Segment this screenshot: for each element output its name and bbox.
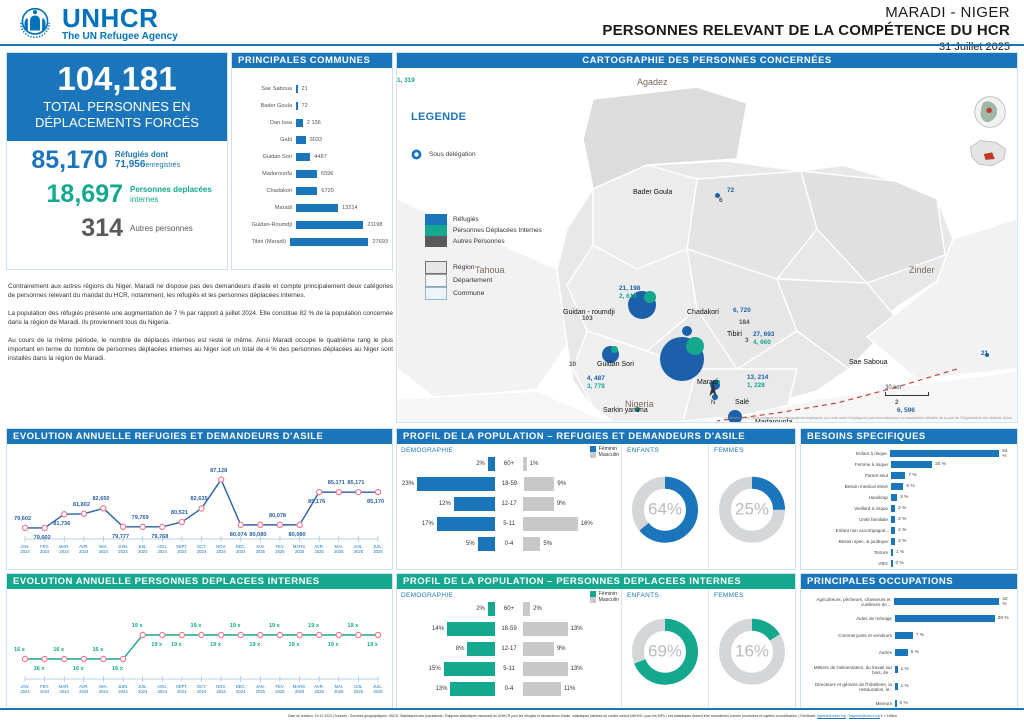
line-point-label: 19 x bbox=[328, 642, 339, 648]
footer-email-1[interactable]: dgarcia@unhcr.org bbox=[817, 714, 846, 718]
line-point-label: 19 x bbox=[230, 623, 241, 629]
occupations-bars: Agriculteurs, pêcheurs, chasseurs et cue… bbox=[801, 589, 1017, 712]
line-point-label: 80,078 bbox=[269, 513, 286, 519]
map-legend: LEGENDE Sous délégation RéfugiésPersonne… bbox=[411, 111, 601, 160]
pyramid-feminin-pct: 5% bbox=[463, 541, 478, 547]
map-town-label: Tibiri bbox=[727, 331, 742, 338]
legend-swatch bbox=[425, 225, 447, 236]
map-panel: CARTOGRAPHIE DES PERSONNES CONCERNÉES Ba… bbox=[396, 52, 1018, 423]
legend-admin-levels: RégionDépartementCommune bbox=[425, 261, 492, 300]
pyramid-masculin-bar bbox=[523, 642, 554, 656]
legend-admin: Région bbox=[425, 261, 492, 274]
legend-category-label: Personnes Déplacées Internes bbox=[453, 227, 542, 234]
legend-admin: Commune bbox=[425, 287, 492, 300]
pyramid-feminin: 12% bbox=[399, 497, 495, 511]
pyramid-masculin-bar bbox=[523, 517, 577, 531]
pyramid-feminin: 5% bbox=[399, 537, 495, 551]
donut-value: 25% bbox=[718, 475, 786, 543]
hbar-bar bbox=[894, 598, 1000, 605]
pyramid-age-label: 60+ bbox=[495, 606, 524, 612]
line-axis-label: JUIL.2025 bbox=[367, 684, 389, 694]
line-point-label: 19 x bbox=[347, 623, 358, 629]
hbar-row: Agriculteurs, pêcheurs, chasseurs et cue… bbox=[803, 593, 1013, 610]
chart-evolution-refugies-title: EVOLUTION ANNUELLE REFUGIES ET DEMANDEUR… bbox=[7, 429, 392, 444]
line-point-label: 82,650 bbox=[92, 496, 109, 502]
hbar-value: 3 % bbox=[897, 495, 908, 500]
line-point-label: 19 x bbox=[171, 642, 182, 648]
kpi-row: 85,170Réfugiés dont 71,956enregistrés bbox=[7, 141, 227, 175]
legend-swatch bbox=[425, 214, 447, 225]
footer-text: Date de création: 19.12.2023 | Sources :… bbox=[288, 714, 897, 718]
kpi-label: Personnes deplacéesinternes bbox=[123, 185, 212, 205]
pyramid-feminin: 2% bbox=[399, 602, 495, 616]
legend-admin-label: Commune bbox=[453, 290, 484, 297]
hbar-value: 6 % bbox=[903, 484, 914, 489]
line-point-label: 80,080 bbox=[289, 532, 306, 538]
pyramid-masculin-bar bbox=[523, 682, 560, 696]
pyramid-row: 23%18-599% bbox=[399, 474, 619, 494]
hbar-row: Unité familiale2 % bbox=[803, 514, 1013, 525]
commune-row: Guidan Sori4487 bbox=[234, 148, 388, 165]
unhcr-logo: UNHCR The UN Refugee Agency bbox=[14, 2, 178, 44]
chart-besoins-specifiques: BESOINS SPECIFIQUES Enfant à risque54 %F… bbox=[800, 428, 1018, 570]
pyramid-masculin: 1% bbox=[523, 457, 619, 471]
commune-value: 27693 bbox=[368, 239, 388, 245]
page-header: UNHCR The UN Refugee Agency MARADI - NIG… bbox=[0, 0, 1024, 46]
niger-inset-icon bbox=[967, 137, 1009, 171]
hbar-row: Handicap3 % bbox=[803, 492, 1013, 503]
hbar-value: 1 % bbox=[893, 550, 904, 555]
pyramid-masculin-bar bbox=[523, 662, 567, 676]
profil-refugies-body: DEMOGRAPHIEFémininMasculin2%60+1%23%18-5… bbox=[397, 444, 795, 569]
legend-admin-swatch bbox=[425, 287, 447, 300]
pyramid-age-label: 12-17 bbox=[495, 646, 524, 652]
map-scale-label: 30 km bbox=[885, 385, 901, 391]
kpi-total-value: 104,181 bbox=[11, 61, 223, 97]
commune-bar bbox=[296, 136, 306, 144]
pyramid-row: 12%12-179% bbox=[399, 494, 619, 514]
map-title: CARTOGRAPHIE DES PERSONNES CONCERNÉES bbox=[397, 53, 1017, 68]
line-point-label: 16 x bbox=[73, 666, 84, 672]
north-label: N bbox=[708, 400, 718, 406]
line-point-label: 19 x bbox=[151, 642, 162, 648]
map-bubble[interactable] bbox=[682, 326, 692, 336]
communes-list: Sae Saboua21Bader Goula72Dan Issa2 136Ga… bbox=[232, 68, 392, 250]
hbar-row: Enfant non accompagné..2 % bbox=[803, 525, 1013, 536]
kpi-total-label: TOTAL PERSONNES EN DÉPLACEMENTS FORCÉS bbox=[11, 99, 223, 131]
hbar-row: Commerçants et vendeurs7 % bbox=[803, 627, 1013, 644]
donut-enfants: ENFANTS69% bbox=[621, 589, 708, 709]
communes-title: PRINCIPALES COMMUNES bbox=[232, 53, 392, 68]
pyramid-feminin-pct: 2% bbox=[473, 606, 488, 612]
pyramid-masculin-pct: 16% bbox=[578, 521, 596, 527]
donut-title: ENFANTS bbox=[622, 447, 708, 454]
hbar-label: Torture bbox=[803, 550, 891, 555]
commune-row: Sae Saboua21 bbox=[234, 80, 388, 97]
hbar-row: Torture1 % bbox=[803, 547, 1013, 558]
pyramid-age-label: 18-59 bbox=[495, 481, 524, 487]
pyramid-age-label: 5-11 bbox=[495, 521, 524, 527]
pyramid-feminin-pct: 13% bbox=[432, 686, 450, 692]
pyramid-masculin-pct: 11% bbox=[561, 686, 579, 692]
pyramid-age-label: 0-4 bbox=[495, 686, 524, 692]
hbar-value: 20 % bbox=[932, 462, 946, 467]
map-value-autres: 184 bbox=[739, 319, 750, 326]
commune-bar bbox=[296, 221, 363, 229]
commune-bar bbox=[296, 204, 338, 212]
legend-sous-delegation: Sous délégation bbox=[411, 149, 601, 160]
legend-entry: Masculin bbox=[590, 597, 619, 603]
hbar-bar bbox=[895, 615, 995, 622]
pyramid-feminin: 2% bbox=[399, 457, 495, 471]
north-arrow-icon bbox=[708, 382, 718, 398]
legend-sous-delegation-label: Sous délégation bbox=[429, 151, 476, 158]
hbar-bar bbox=[891, 472, 905, 479]
map-town-label: Chadakori bbox=[687, 309, 719, 316]
map-scale: 30 km bbox=[885, 385, 929, 396]
map-scale-bar bbox=[885, 392, 929, 396]
map-neighbour-label: Nigeria bbox=[625, 399, 654, 409]
hbar-value: 42 % bbox=[999, 597, 1013, 607]
chart-principales-occupations: PRINCIPALES OCCUPATIONS Agriculteurs, pê… bbox=[800, 573, 1018, 710]
pyramid-masculin: 13% bbox=[523, 622, 619, 636]
line-point-label: 82,635 bbox=[191, 496, 208, 502]
unhcr-emblem-icon bbox=[14, 2, 56, 44]
hbar-label: Unité familiale bbox=[803, 517, 891, 522]
line-point-label: 79,777 bbox=[112, 534, 129, 540]
chart-evolution-refugies: EVOLUTION ANNUELLE REFUGIES ET DEMANDEUR… bbox=[6, 428, 393, 570]
donut-femmes: FEMMES25% bbox=[708, 444, 795, 569]
pyramid-masculin-pct: 5% bbox=[540, 541, 555, 547]
line-point-label: 16 x bbox=[34, 666, 45, 672]
commune-row: Gabi3033 bbox=[234, 131, 388, 148]
narrative-paragraph: Contrairement aux autres régions du Nige… bbox=[8, 282, 393, 300]
commune-value: 4487 bbox=[310, 154, 326, 160]
pyramid-row: 15%5-1113% bbox=[399, 659, 619, 679]
line-point-label: 19 x bbox=[308, 623, 319, 629]
line-point-label: 19 x bbox=[269, 623, 280, 629]
map-value-pdi: 1, 319 bbox=[397, 77, 415, 84]
legend-entry: Masculin bbox=[590, 452, 619, 458]
hbar-value: 7 % bbox=[905, 473, 916, 478]
legend-admin: Département bbox=[425, 274, 492, 287]
map-value-autres: 2 bbox=[895, 399, 899, 406]
pyramid-feminin-bar bbox=[450, 682, 494, 696]
hbar-label: Mineurs bbox=[803, 701, 895, 706]
kpi-panel: 104,181 TOTAL PERSONNES EN DÉPLACEMENTS … bbox=[6, 52, 228, 270]
chart-profil-refugies: PROFIL DE LA POPULATION – REFUGIES ET DE… bbox=[396, 428, 796, 570]
line-point-label: 19 x bbox=[191, 623, 202, 629]
commune-value: 21198 bbox=[363, 222, 382, 228]
pyramid-feminin-bar bbox=[447, 622, 495, 636]
hbar-bar bbox=[891, 461, 932, 468]
pyramid-feminin-bar bbox=[478, 537, 495, 551]
pyramid-masculin: 16% bbox=[523, 517, 619, 531]
legend-category-label: Autres Personnes bbox=[453, 238, 505, 245]
pyramid-masculin: 13% bbox=[523, 662, 619, 676]
map-value-pdi: 3, 778 bbox=[587, 383, 605, 390]
pyramid-feminin-bar bbox=[437, 517, 495, 531]
pyramid-legend: FémininMasculin bbox=[590, 446, 619, 458]
donut-value: 16% bbox=[718, 618, 786, 686]
pyramid-masculin: 9% bbox=[523, 497, 619, 511]
donut-value: 64% bbox=[631, 475, 699, 543]
pyramid-masculin-bar bbox=[523, 497, 554, 511]
commune-name: Maradi bbox=[234, 205, 296, 211]
pyramid-masculin-pct: 9% bbox=[554, 501, 569, 507]
line-point-label: 85,176 bbox=[308, 499, 325, 505]
map-value-pdi: 2, 618 bbox=[619, 293, 637, 300]
commune-name: Tibiri (Maradi) bbox=[234, 239, 290, 245]
pyramid-masculin: 2% bbox=[523, 602, 619, 616]
chart-evolution-pdi: EVOLUTION ANNUELLE PERSONNES DEPLACEES I… bbox=[6, 573, 393, 710]
commune-value: 21 bbox=[298, 86, 308, 92]
pyramid-row: 5%0-45% bbox=[399, 534, 619, 554]
legend-category-label: Réfugiés bbox=[453, 216, 479, 223]
hbar-label: Agriculteurs, pêcheurs, chasseurs et cue… bbox=[803, 597, 894, 607]
hbar-row: Aides de ménage39 % bbox=[803, 610, 1013, 627]
line-point-label: 19 x bbox=[210, 642, 221, 648]
pyramid-masculin-bar bbox=[524, 477, 555, 491]
hbar-value: 1 % bbox=[898, 684, 909, 689]
donut-chart: 25% bbox=[718, 475, 786, 543]
pyramid-feminin-pct: 23% bbox=[399, 481, 417, 487]
pyramid-masculin: 9% bbox=[523, 642, 619, 656]
pyramid-feminin: 13% bbox=[399, 682, 495, 696]
demographie-pyramid: DEMOGRAPHIEFémininMasculin2%60+2%14%18-5… bbox=[397, 589, 621, 709]
kpi-rows: 85,170Réfugiés dont 71,956enregistrés18,… bbox=[7, 141, 227, 243]
map-bubble-idp[interactable] bbox=[644, 291, 656, 303]
hbar-row: Parent seul7 % bbox=[803, 470, 1013, 481]
narrative-text: Contrairement aux autres régions du Nige… bbox=[8, 282, 393, 372]
map-town-label: Guidan Sori bbox=[597, 361, 634, 368]
profil-pdi-body: DEMOGRAPHIEFémininMasculin2%60+2%14%18-5… bbox=[397, 589, 795, 709]
line-point-label: 81,736 bbox=[53, 521, 70, 527]
hbar-value: 0 % bbox=[893, 561, 904, 566]
pyramid-age-label: 60+ bbox=[495, 461, 524, 467]
map-value-refugies: 21, 198 bbox=[619, 285, 640, 292]
commune-value: 6596 bbox=[317, 171, 333, 177]
hbar-label: Besoin spec. & juridique bbox=[803, 539, 891, 544]
commune-bar bbox=[290, 238, 369, 246]
footer-sources: Date de création: 19.12.2023 | Sources :… bbox=[288, 714, 816, 718]
map-neighbour-label: Agadez bbox=[637, 77, 668, 87]
pyramid-age-label: 0-4 bbox=[495, 541, 524, 547]
footer-email-2[interactable]: bagoudo@unhcr.org bbox=[849, 714, 880, 718]
title-main: PERSONNES RELEVANT DE LA COMPÉTENCE DU H… bbox=[602, 22, 1010, 39]
pyramid-row: 8%12-179% bbox=[399, 639, 619, 659]
line-point-label: 79,602 bbox=[34, 535, 51, 541]
hbar-bar bbox=[891, 483, 903, 490]
map-value-refugies: 72 bbox=[727, 187, 734, 194]
map-value-autres: 103 bbox=[582, 315, 593, 322]
map-town-label: Bader Goula bbox=[633, 189, 672, 196]
line-point-label: 85,171 bbox=[328, 480, 345, 486]
chart-profil-pdi: PROFIL DE LA POPULATION – PERSONNES DEPL… bbox=[396, 573, 796, 710]
hbar-row: Métiers de l'alimentation, du travail su… bbox=[803, 661, 1013, 678]
donut-chart: 64% bbox=[631, 475, 699, 543]
map-value-pdi: 4, 660 bbox=[753, 339, 771, 346]
line-point-label: 85,171 bbox=[347, 480, 364, 486]
pyramid-masculin-pct: 9% bbox=[554, 481, 569, 487]
logo-title: UNHCR bbox=[62, 5, 178, 31]
north-arrow: N bbox=[708, 382, 718, 406]
communes-panel: PRINCIPALES COMMUNES Sae Saboua21Bader G… bbox=[231, 52, 393, 270]
hbar-label: Besoin medical elevé bbox=[803, 484, 891, 489]
demographie-pyramid: DEMOGRAPHIEFémininMasculin2%60+1%23%18-5… bbox=[397, 444, 621, 569]
legend-title: LEGENDE bbox=[411, 111, 601, 123]
donut-title: FEMMES bbox=[709, 592, 795, 599]
pyramid-age-label: 12-17 bbox=[495, 501, 524, 507]
line-chart-pdi: 16 x16 x16 x16 x16 x16 x19 x19 x19 x19 x… bbox=[7, 589, 392, 709]
line-point-label: 19 x bbox=[367, 642, 378, 648]
line-chart-refugies: 79,60279,60281,73681,80282,65079,77779,7… bbox=[7, 444, 392, 569]
map-value-autres: 3 bbox=[745, 337, 749, 344]
kpi-value: 314 bbox=[13, 214, 123, 243]
kpi-total: 104,181 TOTAL PERSONNES EN DÉPLACEMENTS … bbox=[7, 53, 227, 141]
map-value-refugies: 6, 720 bbox=[733, 307, 751, 314]
chart-besoins-title: BESOINS SPECIFIQUES bbox=[801, 429, 1017, 444]
line-axis-label: JUIL.2025 bbox=[367, 544, 389, 554]
demographie-title: DEMOGRAPHIE bbox=[399, 447, 619, 454]
legend-category: Réfugiés bbox=[425, 214, 542, 225]
line-point-label: 79,602 bbox=[14, 516, 31, 522]
footer-code: K = 146km bbox=[881, 714, 897, 718]
pyramid-row: 14%18-5913% bbox=[399, 619, 619, 639]
legend-category: Personnes Déplacées Internes bbox=[425, 225, 542, 236]
logo-subtitle: The UN Refugee Agency bbox=[62, 32, 178, 42]
pyramid-masculin-pct: 9% bbox=[554, 646, 569, 652]
hbar-value: 54 % bbox=[999, 449, 1013, 459]
demographie-title: DEMOGRAPHIE bbox=[399, 592, 619, 599]
page-footer: Date de création: 19.12.2023 | Sources :… bbox=[0, 708, 1024, 724]
pyramid-masculin-bar bbox=[523, 537, 540, 551]
donut-chart: 69% bbox=[631, 618, 699, 686]
pyramid-feminin-bar bbox=[467, 642, 494, 656]
pyramid-feminin-bar bbox=[488, 602, 495, 616]
line-point-label: 81,802 bbox=[73, 502, 90, 508]
pyramid-masculin: 5% bbox=[523, 537, 619, 551]
narrative-paragraph: La population des réfugiés présente une … bbox=[8, 309, 393, 327]
hbar-bar bbox=[895, 632, 913, 639]
commune-name: Guidan-Roumdji bbox=[234, 222, 296, 228]
pyramid-feminin-bar bbox=[454, 497, 495, 511]
pyramid-feminin-pct: 2% bbox=[473, 461, 488, 467]
hbar-label: Handicap bbox=[803, 495, 891, 500]
commune-row: Dan Issa2 136 bbox=[234, 114, 388, 131]
hbar-label: Enfant à risque bbox=[803, 451, 890, 456]
map-value-refugies: 21 bbox=[981, 350, 988, 357]
map-value-refugies: 6, 596 bbox=[897, 407, 915, 414]
pyramid-feminin: 14% bbox=[399, 622, 495, 636]
hbar-row: Enfant à risque54 % bbox=[803, 448, 1013, 459]
pyramid-feminin-bar bbox=[488, 457, 495, 471]
legend-admin-swatch bbox=[425, 274, 447, 287]
pyramid-feminin-pct: 12% bbox=[436, 501, 454, 507]
pyramid-feminin-pct: 17% bbox=[419, 521, 437, 527]
line-point-label: 80,080 bbox=[249, 532, 266, 538]
commune-bar bbox=[296, 187, 317, 195]
line-point-label: 85,170 bbox=[367, 499, 384, 505]
header-divider bbox=[0, 44, 1024, 46]
commune-row: Madarounfa6596 bbox=[234, 165, 388, 182]
pyramid-feminin: 15% bbox=[399, 662, 495, 676]
line-point-label: 87,128 bbox=[210, 468, 227, 474]
hbar-label: Directeurs et gérants de l'hôtellerie, l… bbox=[803, 682, 895, 692]
hbar-row: Vieillard à risque2 % bbox=[803, 503, 1013, 514]
narrative-paragraph: Au cours de la même période, le nombre d… bbox=[8, 336, 393, 363]
commune-row: Chadakori6720 bbox=[234, 182, 388, 199]
kpi-label: Autres personnes bbox=[123, 224, 193, 234]
map-canvas[interactable]: Bader Goula726Guidan - roumdji21, 1982, … bbox=[397, 69, 1017, 422]
map-value-refugies: 27, 693 bbox=[753, 331, 774, 338]
pyramid-masculin-pct: 2% bbox=[530, 606, 545, 612]
hbar-label: Commerçants et vendeurs bbox=[803, 633, 895, 638]
commune-value: 3033 bbox=[306, 137, 322, 143]
donut-femmes: FEMMES16% bbox=[708, 589, 795, 709]
map-credit: Les limites et les noms indiqués et les … bbox=[723, 416, 1013, 420]
hbar-row: Femme à risque20 % bbox=[803, 459, 1013, 470]
hbar-label: Aides de ménage bbox=[803, 616, 895, 621]
chart-profil-pdi-title: PROFIL DE LA POPULATION – PERSONNES DEPL… bbox=[397, 574, 795, 589]
donut-enfants: ENFANTS64% bbox=[621, 444, 708, 569]
commune-value: 2 136 bbox=[303, 120, 321, 126]
kpi-value: 85,170 bbox=[13, 146, 108, 175]
commune-value: 13214 bbox=[338, 205, 358, 211]
pyramid-legend: FémininMasculin bbox=[590, 591, 619, 603]
pyramid-masculin-pct: 13% bbox=[568, 626, 586, 632]
pyramid-row: 13%0-411% bbox=[399, 679, 619, 699]
pyramid-feminin-bar bbox=[444, 662, 495, 676]
map-neighbour-label: Zinder bbox=[909, 265, 935, 275]
kpi-label: Réfugiés dont 71,956enregistrés bbox=[108, 150, 219, 171]
commune-row: Maradi13214 bbox=[234, 199, 388, 216]
pyramid-row: 2%60+2% bbox=[399, 599, 619, 619]
pyramid-age-label: 5-11 bbox=[495, 666, 524, 672]
hbar-label: VBG bbox=[803, 561, 891, 566]
pyramid-feminin-bar bbox=[417, 477, 495, 491]
chart-evolution-pdi-title: EVOLUTION ANNUELLE PERSONNES DEPLACEES I… bbox=[7, 574, 392, 589]
map-town-label: Salé bbox=[735, 399, 749, 406]
line-point-label: 79,768 bbox=[151, 534, 168, 540]
commune-name: Bader Goula bbox=[234, 103, 296, 109]
legend-admin-label: Département bbox=[453, 277, 492, 284]
line-point-label: 79,769 bbox=[132, 515, 149, 521]
line-point-label: 19 x bbox=[249, 642, 260, 648]
legend-admin-swatch bbox=[425, 261, 447, 274]
pyramid-feminin: 8% bbox=[399, 642, 495, 656]
commune-value: 6720 bbox=[317, 188, 333, 194]
line-point-label: 80,521 bbox=[171, 510, 188, 516]
pyramid-age-label: 18-59 bbox=[495, 626, 524, 632]
pyramid-row: 2%60+1% bbox=[399, 454, 619, 474]
hbar-label: Parent seul bbox=[803, 473, 891, 478]
pyramid-feminin-pct: 14% bbox=[429, 626, 447, 632]
hbar-value: 2 % bbox=[895, 539, 906, 544]
donut-title: FEMMES bbox=[709, 447, 795, 454]
line-point-label: 19 x bbox=[132, 623, 143, 629]
donut-chart: 16% bbox=[718, 618, 786, 686]
kpi-row: 18,697Personnes deplacéesinternes bbox=[7, 175, 227, 209]
pyramid-feminin: 23% bbox=[399, 477, 495, 491]
chart-profil-refugies-title: PROFIL DE LA POPULATION – REFUGIES ET DE… bbox=[397, 429, 795, 444]
map-value-autres: 10 bbox=[569, 361, 576, 368]
commune-bar bbox=[296, 153, 310, 161]
commune-name: Dan Issa bbox=[234, 120, 296, 126]
title-region: MARADI - NIGER bbox=[602, 4, 1010, 21]
hbar-row: VBG0 % bbox=[803, 558, 1013, 569]
hbar-value: 1 % bbox=[898, 667, 909, 672]
